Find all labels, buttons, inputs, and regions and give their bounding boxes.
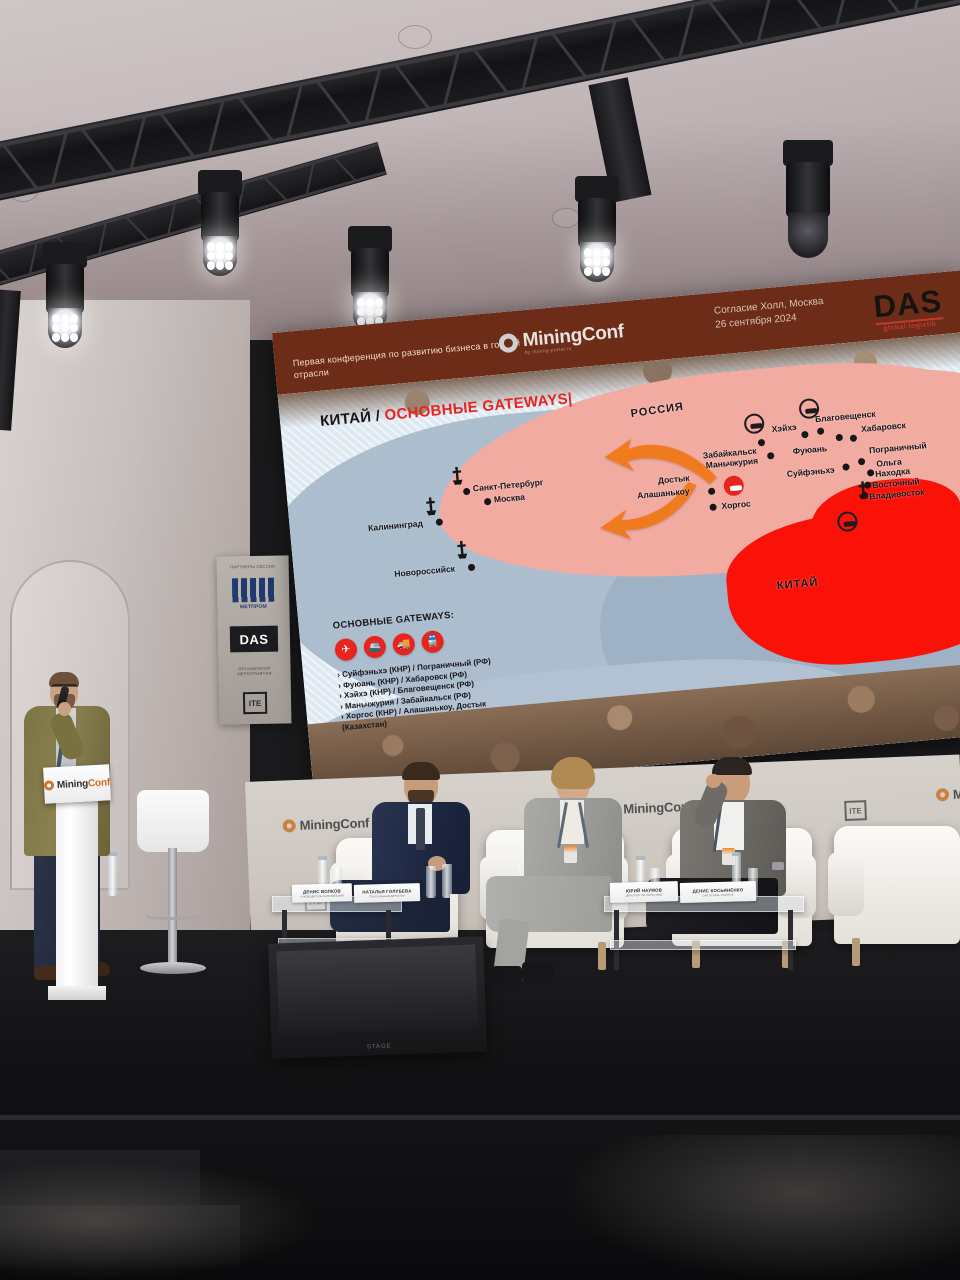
podium-base	[48, 986, 106, 1000]
podium: MiningConf	[44, 766, 110, 1002]
armchair-arm	[828, 852, 864, 916]
nameplate-role: ДИРЕКТОР ПО ЛОГИСТИКЕ	[626, 893, 663, 897]
light-body	[351, 248, 389, 298]
backdrop-brand-label: MiningConf	[953, 784, 960, 802]
presentation-screen: Первая конференция по развитию бизнеса в…	[272, 270, 960, 796]
backdrop-brand-text: MiningConf	[953, 784, 960, 802]
monitor-label: STAGE	[367, 1044, 392, 1051]
miningconf-wordmark: MiningConf	[522, 321, 625, 352]
panelist-hair	[712, 757, 752, 775]
panelist-boot	[492, 966, 522, 988]
nameplate: ДЕНИС КОСЬЯНЕНКО DAS GLOBAL LOGISTIK	[680, 881, 756, 903]
gear-icon	[282, 819, 295, 832]
ceiling-light-recess	[398, 25, 432, 49]
nameplate-role: DAS GLOBAL LOGISTIK	[703, 893, 734, 897]
panelist-boot	[522, 962, 554, 984]
gear-icon	[498, 332, 519, 353]
light-body	[201, 192, 239, 242]
stage-light-fixture	[195, 170, 245, 282]
nameplate: ЮРИЙ НАУМОВ ДИРЕКТОР ПО ЛОГИСТИКЕ	[610, 881, 679, 903]
drinking-glass	[442, 864, 452, 898]
panelist-badge	[564, 846, 577, 863]
nameplate-name: ЮРИЙ НАУМОВ	[626, 887, 662, 893]
podium-sign: MiningConf	[43, 764, 111, 803]
backdrop-brand-text: MiningConf	[299, 815, 369, 833]
speaker-hand	[58, 702, 71, 716]
nameplate-name: ДЕНИС ВОЛКОВ	[303, 888, 341, 894]
nameplate: ДЕНИС ВОЛКОВ РУКОВОДИТЕЛЬ НАПРАВЛЕНИЯ	[292, 883, 352, 903]
panelist-hair	[402, 762, 440, 780]
armchair-leg	[852, 938, 860, 966]
sponsor-heading-organizer: ОРГАНИЗАТОР МЕРОПРИЯТИЯ	[224, 665, 284, 676]
led-array	[52, 314, 78, 342]
nameplate-role: ГЕНЕРАЛЬНЫЙ ДИРЕКТОР	[369, 894, 405, 898]
drinking-glass	[426, 866, 436, 898]
armchair-leg	[598, 942, 606, 970]
backdrop-ite-logo: ITE	[844, 800, 867, 821]
stage-light-fixture	[572, 176, 622, 288]
train-icon: 🚆	[421, 630, 445, 654]
light-body	[578, 198, 616, 248]
das-logo: DAS global logistik	[872, 286, 944, 333]
podium-column	[56, 800, 98, 990]
light-body	[46, 264, 84, 314]
sponsor-banner: ПАРТНЕРЫ СЕССИИ МЕТПРОМ DAS ОРГАНИЗАТОР …	[217, 555, 292, 724]
ship-icon: 🚢	[363, 635, 387, 659]
monitor-screen	[276, 945, 478, 1035]
led-array	[207, 242, 233, 270]
backdrop-miningconf-logo: MiningConf	[282, 815, 369, 833]
das-wordmark: DAS	[872, 286, 943, 322]
led-array	[357, 298, 383, 326]
bar-stool-seat	[137, 790, 209, 852]
venue-info: Согласие Холл, Москва 26 сентября 2024	[713, 295, 825, 333]
floor-light-pool-left	[0, 1160, 320, 1280]
panelist-tie	[416, 808, 425, 850]
podium-brand-label: Mining	[57, 778, 89, 791]
metprom-logo-icon	[232, 578, 274, 603]
table-shelf-right	[610, 940, 796, 950]
stage-monitor: STAGE	[268, 936, 487, 1058]
panelist-hair	[551, 757, 595, 789]
stage-scene: ПАРТНЕРЫ СЕССИИ МЕТПРОМ DAS ОРГАНИЗАТОР …	[0, 0, 960, 1280]
light-lens	[788, 212, 828, 258]
light-body	[786, 162, 830, 218]
gear-icon	[44, 780, 55, 791]
backdrop-brand-label: MiningConf	[299, 815, 369, 833]
floor-light-pool	[560, 1135, 960, 1280]
bar-stool-footrest	[146, 912, 200, 920]
sponsor-logo-das: DAS	[230, 626, 278, 653]
sponsor-heading-partners: ПАРТНЕРЫ СЕССИИ	[223, 563, 283, 569]
sponsor-logo-metprom: МЕТПРОМ	[223, 603, 283, 610]
sponsor-logo-ite: ITE	[243, 692, 267, 714]
podium-brand-accent: Conf	[88, 777, 111, 789]
slide: Первая конференция по развитию бизнеса в…	[272, 270, 960, 796]
panelist-watch	[772, 862, 784, 870]
plane-icon: ✈	[334, 638, 358, 662]
stage-light-fixture	[345, 226, 395, 338]
podium-brand: MiningConf	[57, 777, 110, 791]
map-canvas: КИТАЙ / ОСНОВНЫЕ GATEWAYS| РОССИЯ КИТАЙ	[278, 332, 960, 796]
backdrop-miningconf-logo: MiningConf	[936, 784, 960, 802]
bar-stool-leg	[168, 848, 177, 970]
map-legend: ОСНОВНЫЕ GATEWAYS: ✈ 🚢 🚚 🚆 Суйфэньхэ (КН…	[332, 599, 581, 733]
panelist-hand	[706, 774, 721, 788]
led-array	[584, 248, 610, 276]
stage-light-fixture	[780, 140, 836, 258]
truck-icon: 🚚	[392, 632, 416, 656]
nameplate-role: РУКОВОДИТЕЛЬ НАПРАВЛЕНИЯ	[300, 894, 343, 898]
stage-light-fixture	[40, 242, 90, 354]
bar-stool-base	[140, 962, 206, 974]
nameplate: НАТАЛЬЯ ГОЛУБЕВА ГЕНЕРАЛЬНЫЙ ДИРЕКТОР	[354, 883, 420, 903]
nameplate-name: ДЕНИС КОСЬЯНЕНКО	[693, 887, 744, 893]
gear-icon	[936, 788, 949, 801]
